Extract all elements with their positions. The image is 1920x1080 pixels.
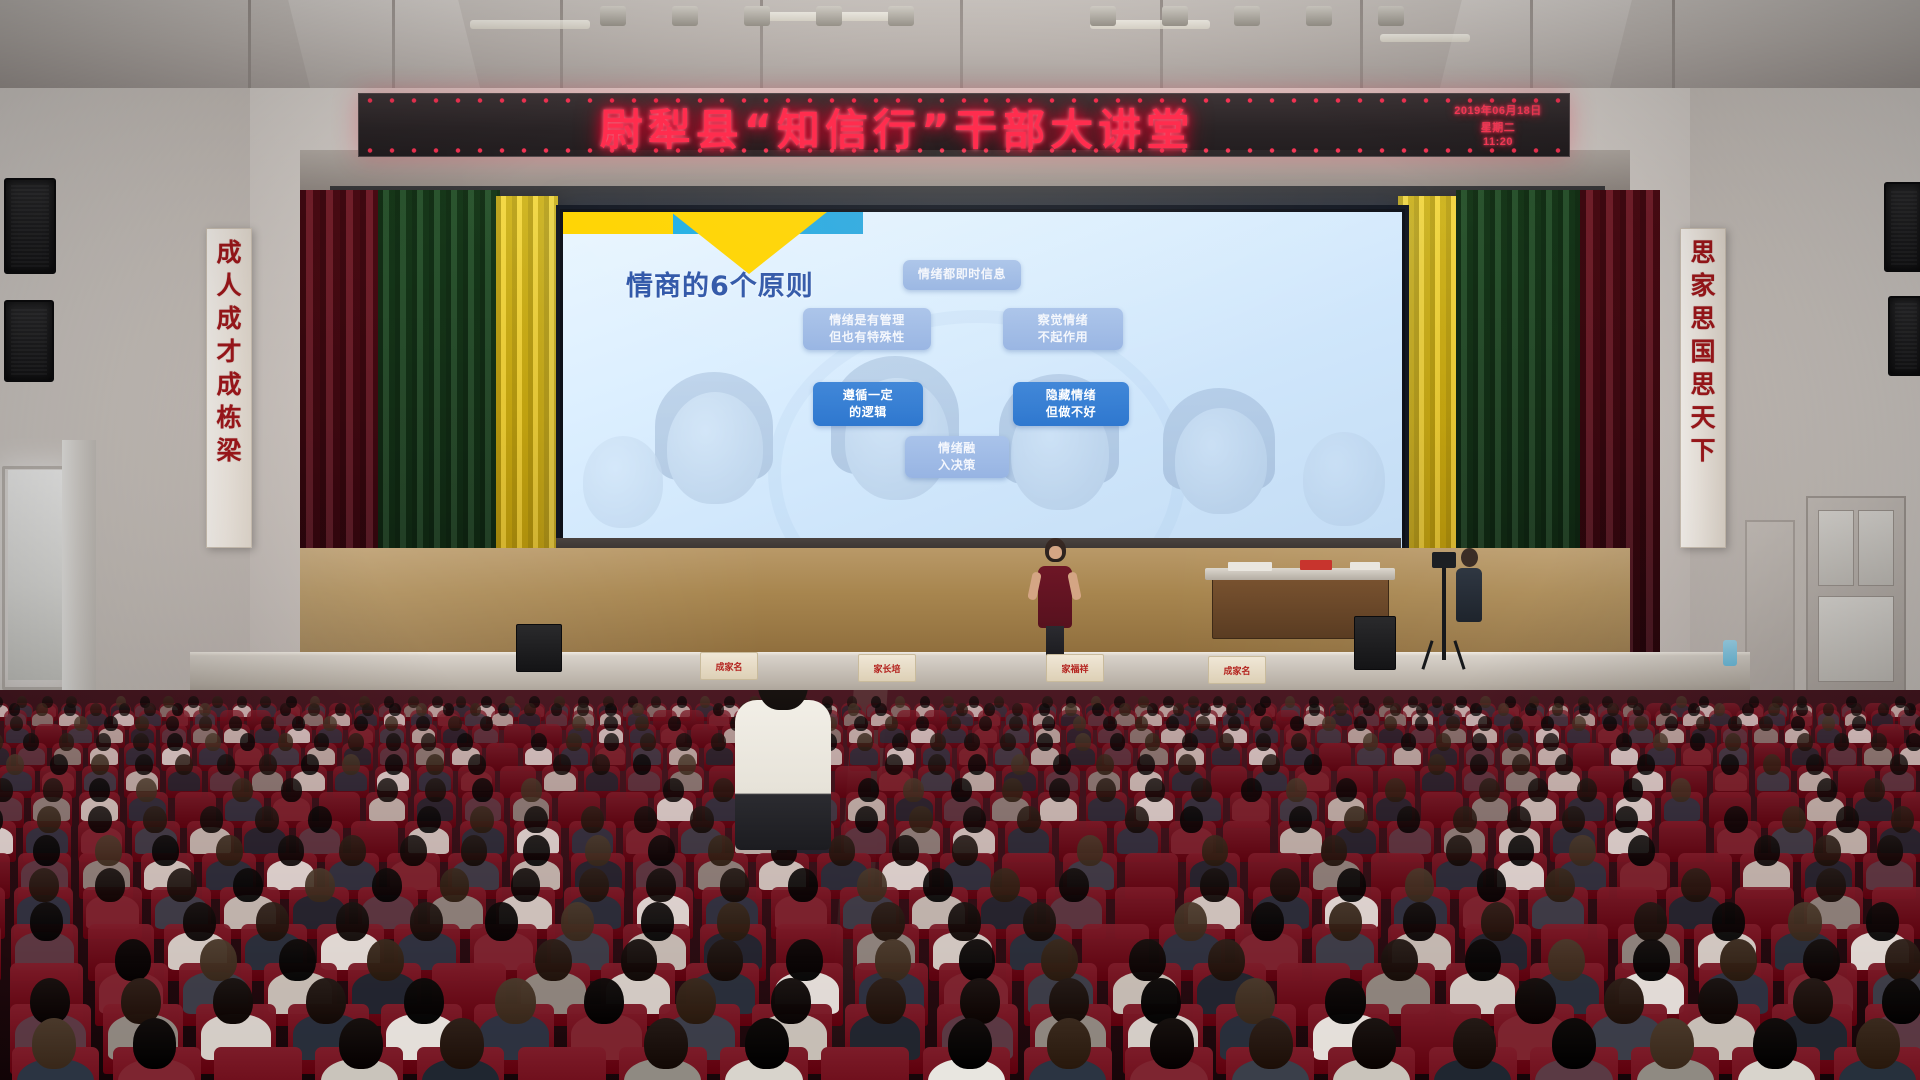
couplet-char: 下 bbox=[1690, 434, 1715, 467]
audience-member-head bbox=[848, 703, 860, 717]
audience-member-head bbox=[342, 754, 360, 775]
audience-member-head bbox=[745, 1018, 789, 1069]
audience-member-head bbox=[23, 733, 39, 751]
audience-member-head bbox=[854, 716, 868, 732]
audience-member-head bbox=[1196, 716, 1210, 732]
audience-member-head bbox=[1791, 716, 1805, 732]
audience-member-head bbox=[1653, 733, 1669, 751]
audience-member-head bbox=[440, 1018, 484, 1069]
audience-member-head bbox=[1415, 716, 1429, 732]
audience-member-head bbox=[1699, 696, 1710, 708]
audience-member-head bbox=[663, 778, 684, 802]
audience-member-head bbox=[457, 733, 473, 751]
stage-monitor-left bbox=[516, 624, 562, 672]
right-wall-couplet: 思 家 思 国 思 天 下 bbox=[1680, 228, 1726, 548]
audience-member-head bbox=[1446, 716, 1460, 732]
audience-member-head bbox=[1753, 1018, 1797, 1069]
audience-member-head bbox=[1059, 868, 1089, 903]
audience-member-head bbox=[9, 703, 21, 717]
audience-member-head bbox=[255, 806, 279, 833]
audience-member-head bbox=[1796, 703, 1808, 717]
audience-member-head bbox=[470, 806, 494, 833]
audience-member-head bbox=[205, 733, 221, 751]
audience-member-head bbox=[1552, 1018, 1596, 1069]
node-line: 的逻辑 bbox=[849, 404, 887, 421]
pa-speaker-left bbox=[4, 300, 54, 382]
couplet-char: 梁 bbox=[216, 434, 241, 467]
audience-member-head bbox=[1634, 716, 1648, 732]
audience-member-head bbox=[188, 696, 199, 708]
audience-member-head bbox=[1759, 716, 1773, 732]
valance-lamp bbox=[1234, 6, 1260, 26]
audience-member-head bbox=[1604, 978, 1644, 1025]
audience-seat bbox=[518, 1047, 606, 1080]
audience-member-head bbox=[1623, 778, 1644, 802]
audience-member-head bbox=[1432, 696, 1443, 708]
couplet-char: 国 bbox=[1690, 335, 1715, 368]
audience-member-head bbox=[1011, 754, 1029, 775]
audience-member-head bbox=[1125, 806, 1149, 833]
valance-lamp bbox=[1090, 6, 1116, 26]
door-lower-panel bbox=[1818, 596, 1894, 682]
audience-member-head bbox=[524, 703, 536, 717]
audience-member-head bbox=[367, 939, 404, 982]
audience-member-head bbox=[175, 754, 193, 775]
slide-node-bottom-left: 遵循一定 的逻辑 bbox=[813, 382, 923, 426]
audience-member-head bbox=[136, 778, 157, 802]
audience-member-head bbox=[909, 806, 933, 833]
audience-member-head bbox=[984, 703, 996, 717]
audience-member-head bbox=[30, 902, 63, 941]
audience-member-head bbox=[104, 716, 118, 732]
gift-box-2: 家长培 bbox=[858, 654, 916, 682]
audience-member-head bbox=[416, 703, 428, 717]
audience-member-head bbox=[1397, 806, 1421, 833]
audience-member-head bbox=[1453, 1018, 1497, 1069]
audience-member-head bbox=[1615, 806, 1639, 833]
audience-member-head bbox=[644, 1018, 688, 1069]
audience-member-head bbox=[952, 835, 979, 866]
audience-member-head bbox=[1508, 835, 1535, 866]
audience-member-head bbox=[1470, 703, 1482, 717]
audience-member-head bbox=[1806, 754, 1824, 775]
gift-box-label: 成家名 bbox=[715, 660, 742, 673]
audience-member-head bbox=[1012, 703, 1024, 717]
couplet-char: 栋 bbox=[216, 401, 241, 434]
audience-member-head bbox=[314, 733, 330, 751]
audience-member-head bbox=[1788, 902, 1821, 941]
tripod-column bbox=[1442, 568, 1446, 660]
audience-member-head bbox=[724, 696, 735, 708]
audience-member-head bbox=[10, 716, 24, 732]
audience-member-head bbox=[1634, 902, 1667, 941]
audience-member-head bbox=[951, 778, 972, 802]
audience-member-head bbox=[217, 754, 235, 775]
audience-member-head bbox=[1254, 703, 1266, 717]
audience-member-head bbox=[1453, 806, 1477, 833]
audience-member-head bbox=[1877, 835, 1904, 866]
audience-member-head bbox=[1092, 703, 1104, 717]
audience-member-head bbox=[511, 868, 541, 903]
camera-operator-body bbox=[1456, 568, 1482, 622]
audience-member-head bbox=[1555, 754, 1573, 775]
audience-member-head bbox=[237, 696, 248, 708]
audience-member-head bbox=[1178, 754, 1196, 775]
audience-member-head bbox=[1226, 703, 1238, 717]
audience-member-head bbox=[1817, 778, 1838, 802]
audience-member-head bbox=[232, 778, 253, 802]
gift-box-label: 家长培 bbox=[873, 662, 900, 675]
slide-background-photo bbox=[563, 316, 1402, 551]
led-banner-title: 尉犁县“知信行”干部大讲堂 bbox=[427, 102, 1367, 152]
audience-member-head bbox=[115, 939, 152, 982]
audience-member-head bbox=[461, 835, 488, 866]
audience-member-head bbox=[635, 716, 649, 732]
node-line: 遵循一定 bbox=[843, 387, 893, 404]
audience-member-head bbox=[1000, 733, 1016, 751]
audience-member-head bbox=[1241, 778, 1262, 802]
audience-member-head bbox=[133, 1018, 177, 1069]
node-line: 情绪都即时信息 bbox=[918, 266, 1006, 283]
audience-member-head bbox=[990, 868, 1020, 903]
audience-member-head bbox=[1049, 778, 1070, 802]
audience-member-head bbox=[524, 806, 548, 833]
audience-member-head bbox=[1428, 754, 1446, 775]
audience-member-head bbox=[651, 696, 662, 708]
audience-member-head bbox=[1352, 1018, 1396, 1069]
audience-member-head bbox=[1096, 778, 1117, 802]
audience-seating bbox=[0, 690, 1920, 1080]
audience-member-head bbox=[470, 703, 482, 717]
audience-member-head bbox=[292, 716, 306, 732]
ceiling-beam bbox=[392, 0, 395, 95]
audience-member-head bbox=[50, 754, 68, 775]
audience-member-head bbox=[1002, 778, 1023, 802]
podium-laptop bbox=[1228, 562, 1272, 571]
couplet-char: 才 bbox=[216, 335, 241, 368]
audience-member-head bbox=[829, 835, 856, 866]
audience-member-head bbox=[1065, 703, 1077, 717]
audience-member-head bbox=[641, 902, 674, 941]
audience-member-head bbox=[1572, 716, 1586, 732]
audience-member-head bbox=[135, 754, 153, 775]
audience-member-head bbox=[1173, 703, 1185, 717]
audience-member-head bbox=[385, 716, 399, 732]
audience-member-head bbox=[1676, 696, 1687, 708]
audience-member-head bbox=[1075, 733, 1091, 751]
audience-member-head bbox=[421, 733, 437, 751]
valance-lamp bbox=[1162, 6, 1188, 26]
audience-member-head bbox=[1039, 703, 1051, 717]
audience-member-head bbox=[1851, 703, 1863, 717]
audience-member-head bbox=[968, 754, 986, 775]
couplet-char: 天 bbox=[1690, 401, 1715, 434]
audience-member-head bbox=[1228, 716, 1242, 732]
audience-member-head bbox=[1335, 703, 1347, 717]
audience-member-head bbox=[133, 733, 149, 751]
audience-member-head bbox=[1852, 716, 1866, 732]
audience-member-head bbox=[377, 778, 398, 802]
audience-member-head bbox=[1150, 1018, 1194, 1069]
photo-face bbox=[583, 436, 663, 528]
audience-member-head bbox=[425, 778, 446, 802]
ceiling-beam bbox=[960, 0, 963, 95]
couplet-char: 成 bbox=[216, 368, 241, 401]
audience-member-head bbox=[498, 703, 510, 717]
audience-member-head bbox=[1336, 778, 1357, 802]
audience-member-head bbox=[1290, 716, 1304, 732]
audience-member-head bbox=[875, 939, 912, 982]
audience-member-head bbox=[481, 696, 492, 708]
audience-member-head bbox=[1712, 902, 1745, 941]
audience-member-head bbox=[1871, 733, 1887, 751]
audience-member-head bbox=[1481, 902, 1514, 941]
audience-member-head bbox=[708, 835, 735, 866]
audience-member-head bbox=[1628, 835, 1655, 866]
audience-member-head bbox=[1256, 733, 1272, 751]
audience-member-head bbox=[305, 868, 335, 903]
audience-member-head bbox=[1763, 754, 1781, 775]
audience-member-head bbox=[1262, 754, 1280, 775]
audience-member-head bbox=[29, 868, 59, 903]
audience-member-head bbox=[1213, 696, 1224, 708]
audience-member-head bbox=[648, 835, 675, 866]
audience-member-head bbox=[1363, 703, 1375, 717]
audience-member-head bbox=[948, 1018, 992, 1069]
audience-member-head bbox=[994, 696, 1005, 708]
podium-item bbox=[1350, 562, 1380, 570]
standing-attendee bbox=[735, 700, 831, 850]
audience-member-head bbox=[456, 696, 467, 708]
left-wall-couplet: 成 人 成 才 成 栋 梁 bbox=[206, 228, 252, 548]
audience-member-head bbox=[668, 716, 682, 732]
audience-member-head bbox=[200, 939, 237, 982]
audience-member-head bbox=[1541, 716, 1555, 732]
pa-speaker-top-right bbox=[1884, 182, 1920, 272]
pa-speaker-right bbox=[1888, 296, 1920, 376]
audience-member-head bbox=[551, 703, 563, 717]
audience-member-head bbox=[495, 978, 535, 1025]
audience-member-head bbox=[354, 716, 368, 732]
podium-item bbox=[1300, 560, 1332, 570]
audience-member-head bbox=[362, 703, 374, 717]
audience-member-head bbox=[1698, 978, 1738, 1025]
audience-member-head bbox=[1720, 939, 1757, 982]
audience-member-head bbox=[426, 754, 444, 775]
valance-lamp bbox=[1378, 6, 1404, 26]
audience-member-head bbox=[1856, 1018, 1900, 1069]
audience-member-head bbox=[339, 1018, 383, 1069]
audience-member-head bbox=[1552, 703, 1564, 717]
audience-member-head bbox=[1137, 754, 1155, 775]
slide-node-left: 情绪是有管理 但也有特殊性 bbox=[803, 308, 931, 350]
couplet-char: 思 bbox=[1690, 368, 1715, 401]
audience-member-head bbox=[229, 716, 243, 732]
node-line: 隐藏情绪 bbox=[1046, 387, 1096, 404]
audience-member-head bbox=[1562, 806, 1586, 833]
audience-member-head bbox=[633, 754, 651, 775]
audience-seat bbox=[0, 924, 1, 982]
audience-member-head bbox=[1166, 716, 1180, 732]
audience-member-head bbox=[1479, 778, 1500, 802]
audience-member-head bbox=[91, 754, 109, 775]
audience-member-head bbox=[216, 835, 243, 866]
audience-member-head bbox=[943, 696, 954, 708]
audience-member-head bbox=[1633, 703, 1645, 717]
slide-title: 情商的6个原则 bbox=[626, 264, 814, 303]
audience-member-head bbox=[1103, 716, 1117, 732]
audience-member-head bbox=[1754, 835, 1781, 866]
audience-member-head bbox=[1145, 733, 1161, 751]
audience-member-head bbox=[604, 733, 620, 751]
audience-member-head bbox=[1768, 703, 1780, 717]
audience-member-head bbox=[212, 696, 223, 708]
audience-member-head bbox=[1249, 1018, 1293, 1069]
audience-member-head bbox=[1728, 716, 1742, 732]
audience-member-head bbox=[1049, 978, 1089, 1025]
audience-member-head bbox=[928, 754, 946, 775]
led-weekday: 星期二 bbox=[1481, 119, 1516, 135]
audience-member-head bbox=[947, 716, 961, 732]
audience-member-head bbox=[1660, 703, 1672, 717]
audience-member-head bbox=[1478, 716, 1492, 732]
audience-member-head bbox=[256, 902, 289, 941]
audience-member-head bbox=[167, 733, 183, 751]
audience-member-head bbox=[1834, 733, 1850, 751]
window-curtain bbox=[62, 440, 96, 695]
audience-member-head bbox=[521, 778, 542, 802]
audience-member-head bbox=[1548, 939, 1585, 982]
ceiling-light bbox=[1380, 34, 1470, 42]
audience-member-head bbox=[788, 868, 818, 903]
audience-member-head bbox=[676, 733, 692, 751]
audience-member-head bbox=[1110, 733, 1126, 751]
audience-member-head bbox=[717, 902, 750, 941]
audience-member-head bbox=[1141, 978, 1181, 1025]
audience-member-head bbox=[279, 939, 316, 982]
audience-member-head bbox=[903, 778, 924, 802]
audience-member-head bbox=[577, 703, 589, 717]
audience-member-head bbox=[866, 978, 906, 1025]
audience-member-head bbox=[1890, 754, 1908, 775]
audience-member-head bbox=[119, 703, 131, 717]
audience-member-head bbox=[213, 978, 253, 1025]
photo-face bbox=[1303, 432, 1385, 526]
audience-member-head bbox=[386, 733, 402, 751]
audience-member-head bbox=[1528, 778, 1549, 802]
audience-member-head bbox=[443, 703, 455, 717]
audience-member-head bbox=[956, 703, 968, 717]
audience-member-head bbox=[1782, 806, 1806, 833]
slide-node-bottom-right: 隐藏情绪 但做不好 bbox=[1013, 382, 1129, 426]
audience-member-head bbox=[167, 868, 197, 903]
audience-member-head bbox=[1498, 703, 1510, 717]
led-datetime-panel: 2019年06月18日 星期二 11:20 bbox=[1439, 100, 1557, 150]
audience-member-head bbox=[1577, 778, 1598, 802]
audience-member-head bbox=[440, 868, 470, 903]
audience-member-head bbox=[1436, 733, 1452, 751]
slide-node-base: 情绪融 入决策 bbox=[905, 436, 1009, 478]
audience-member-head bbox=[1512, 754, 1530, 775]
audience-member-head bbox=[1446, 835, 1473, 866]
audience-member-head bbox=[278, 733, 294, 751]
audience-member-head bbox=[948, 902, 981, 941]
audience-member-head bbox=[1480, 696, 1491, 708]
audience-member-head bbox=[1814, 835, 1841, 866]
audience-member-head bbox=[584, 978, 624, 1025]
audience-member-head bbox=[1077, 835, 1104, 866]
camera-operator-head bbox=[1461, 548, 1478, 567]
audience-member-head bbox=[400, 835, 427, 866]
audience-member-head bbox=[523, 835, 550, 866]
audience-member-head bbox=[1507, 806, 1531, 833]
audience-member-head bbox=[1200, 868, 1230, 903]
audience-member-head bbox=[1456, 696, 1467, 708]
node-line: 察觉情绪 bbox=[1038, 312, 1088, 329]
audience-member-head bbox=[923, 868, 953, 903]
audience-member-head bbox=[96, 733, 112, 751]
audience-member-head bbox=[95, 868, 125, 903]
audience-member-head bbox=[1569, 835, 1596, 866]
audience-member-head bbox=[579, 868, 609, 903]
audience-member-head bbox=[306, 978, 346, 1025]
ceiling-light bbox=[470, 20, 590, 29]
projection-screen: 情商的6个原则 情绪都即时信息 情绪是有管理 但也有特殊性 察觉情绪 不起作用 … bbox=[563, 212, 1402, 551]
audience-member-head bbox=[1721, 754, 1739, 775]
ceiling-beam bbox=[560, 0, 563, 95]
audience-member-head bbox=[634, 806, 658, 833]
couplet-char: 家 bbox=[1690, 269, 1715, 302]
audience-member-head bbox=[892, 733, 908, 751]
audience-member-head bbox=[1191, 778, 1212, 802]
audience-member-head bbox=[308, 703, 320, 717]
audience-member-head bbox=[1337, 868, 1367, 903]
audience-member-head bbox=[920, 696, 931, 708]
audience-member-head bbox=[1472, 733, 1488, 751]
gift-box-label: 家福祥 bbox=[1061, 662, 1088, 675]
audience-member-head bbox=[1607, 703, 1619, 717]
audience-member-head bbox=[1885, 939, 1920, 982]
audience-member-head bbox=[1344, 806, 1368, 833]
audience-member-head bbox=[89, 778, 110, 802]
audience-member-head bbox=[1325, 978, 1365, 1025]
audience-member-head bbox=[95, 835, 122, 866]
slide-accent-yellow-bar bbox=[563, 212, 673, 234]
audience-member-head bbox=[871, 902, 904, 941]
audience-member-head bbox=[1219, 733, 1235, 751]
door-glass-panel bbox=[1818, 510, 1854, 586]
audience-member-head bbox=[339, 835, 366, 866]
audience-member-head bbox=[960, 978, 1000, 1025]
audience-member-head bbox=[1803, 939, 1840, 982]
audience-member-head bbox=[1037, 733, 1053, 751]
audience-member-head bbox=[1637, 754, 1655, 775]
audience-member-head bbox=[152, 835, 179, 866]
audience-member-head bbox=[335, 703, 347, 717]
slide-node-right: 察觉情绪 不起作用 bbox=[1003, 308, 1123, 350]
audience-member-head bbox=[199, 703, 211, 717]
audience-member-head bbox=[1836, 806, 1860, 833]
audience-member-head bbox=[1073, 716, 1087, 732]
audience-member-head bbox=[485, 902, 518, 941]
audience-member-head bbox=[90, 703, 102, 717]
audience-member-head bbox=[410, 902, 443, 941]
audience-member-head bbox=[1385, 778, 1406, 802]
audience-member-head bbox=[480, 716, 494, 732]
audience-member-head bbox=[895, 696, 906, 708]
audience-member-head bbox=[1119, 703, 1131, 717]
ceiling-beam bbox=[1530, 0, 1533, 95]
